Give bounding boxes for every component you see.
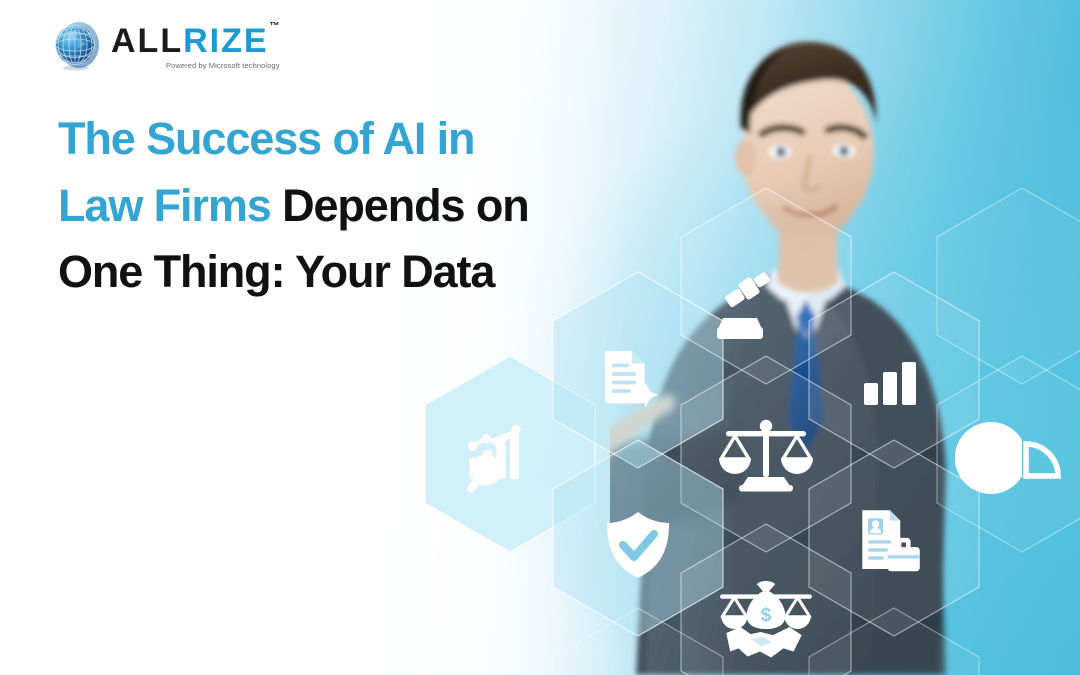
marketing-banner: $ [0, 0, 1080, 675]
logo-wordmark-block: ALLRIZE™ Powered by Microsoft technology [111, 18, 282, 70]
globe-icon [52, 18, 102, 74]
headline-line-1-text: The Success of AI in [58, 113, 474, 164]
hexagon-cell-empty-left [425, 356, 595, 552]
hero-person-image [610, 0, 1080, 675]
logo-word-rize: RIZE [183, 24, 268, 58]
headline-line-2: Law Firms Depends on [58, 173, 529, 240]
page-title: The Success of AI in Law Firms Depends o… [58, 106, 529, 306]
logo-wordmark: ALLRIZE™ [111, 24, 282, 58]
logo-tagline: Powered by Microsoft technology [111, 61, 282, 70]
headline-line-3: One Thing: Your Data [58, 239, 529, 306]
logo-word-all: ALL [111, 24, 183, 58]
headline-line-3-text: One Thing: Your Data [58, 246, 494, 297]
brand-logo[interactable]: ALLRIZE™ Powered by Microsoft technology [52, 18, 282, 74]
hexagon-cell-analytics [425, 356, 595, 552]
left-white-fade [0, 0, 626, 675]
headline-line-2-text: Depends on [271, 180, 529, 231]
trademark-symbol: ™ [270, 22, 282, 32]
data-analytics-magnifier-icon [466, 425, 521, 494]
headline-line-2-highlight: Law Firms [58, 180, 271, 231]
headline-line-1: The Success of AI in [58, 106, 529, 173]
